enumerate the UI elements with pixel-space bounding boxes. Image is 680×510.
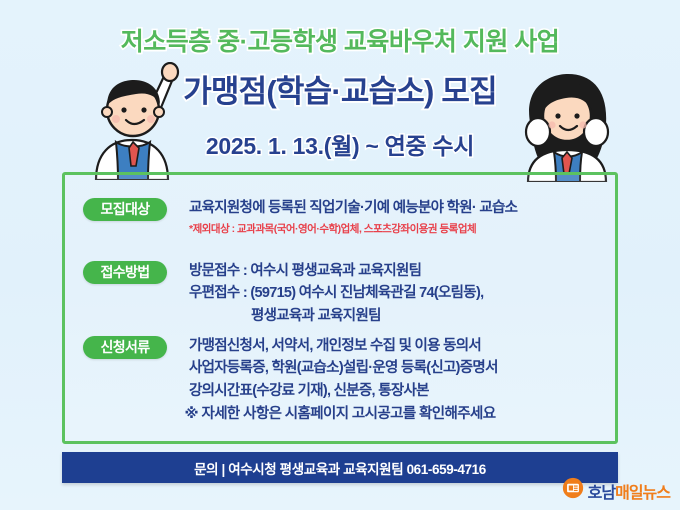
- section-line: 평생교육과 교육지원팀: [189, 305, 483, 327]
- poster-canvas: 저소득층 중·고등학생 교육바우처 지원 사업 가맹점(학습·교습소) 모집 2…: [0, 0, 680, 510]
- section-line: 가맹점신청서, 서약서, 개인정보 수집 및 이용 동의서: [189, 335, 498, 357]
- section-line: 교육지원청에 등록된 직업기술·기예 예능분야 학원· 교습소: [189, 197, 517, 219]
- section-line: 우편접수 : (59715) 여수시 진남체육관길 74(오림동),: [189, 282, 483, 304]
- section-body-application-method: 방문접수 : 여수시 평생교육과 교육지원팀 우편접수 : (59715) 여수…: [189, 260, 483, 327]
- section-line: 강의시간표(수강료 기재), 신분증, 통장사본: [189, 380, 498, 402]
- contact-text: 문의 | 여수시청 평생교육과 교육지원팀 061-659-4716: [194, 458, 486, 478]
- news-logo-icon: [562, 477, 584, 504]
- section-label-application-method: 접수방법: [83, 261, 167, 284]
- watermark-logo: 호남매일뉴스: [562, 477, 670, 504]
- info-panel: 모집대상 교육지원청에 등록된 직업기술·기예 예능분야 학원· 교습소 *제외…: [62, 172, 618, 444]
- section-row-recruitment-target: 모집대상 교육지원청에 등록된 직업기술·기예 예능분야 학원· 교습소 *제외…: [83, 197, 601, 238]
- watermark-text-part1: 호남: [588, 485, 615, 502]
- section-row-required-documents: 신청서류 가맹점신청서, 서약서, 개인정보 수집 및 이용 동의서 사업자등록…: [83, 335, 601, 402]
- section-label-required-documents: 신청서류: [83, 336, 167, 359]
- page-title-line1: 저소득층 중·고등학생 교육바우처 지원 사업: [0, 0, 680, 58]
- watermark-text: 호남매일뉴스: [588, 479, 670, 503]
- section-body-recruitment-target: 교육지원청에 등록된 직업기술·기예 예능분야 학원· 교습소 *제외대상 : …: [189, 197, 517, 238]
- section-body-required-documents: 가맹점신청서, 서약서, 개인정보 수집 및 이용 동의서 사업자등록증, 학원…: [189, 335, 498, 402]
- watermark-text-part2: 매일뉴스: [615, 485, 670, 502]
- exclusion-note: *제외대상 : 교과과목(국어·영어·수학)업체, 스포츠강좌이용권 등록업체: [189, 221, 517, 237]
- section-line: 사업자등록증, 학원(교습소)설립·운영 등록(신고)증명서: [189, 357, 498, 379]
- section-label-recruitment-target: 모집대상: [83, 198, 167, 221]
- poster-header: 저소득층 중·고등학생 교육바우처 지원 사업 가맹점(학습·교습소) 모집 2…: [0, 0, 680, 172]
- section-row-application-method: 접수방법 방문접수 : 여수시 평생교육과 교육지원팀 우편접수 : (5971…: [83, 260, 601, 327]
- page-title-line2: 가맹점(학습·교습소) 모집: [0, 66, 680, 111]
- contact-footer-bar: 문의 | 여수시청 평생교육과 교육지원팀 061-659-4716: [62, 452, 618, 483]
- panel-footnote: ※ 자세한 사항은 시홈페이지 고시공고를 확인해주세요: [65, 402, 615, 423]
- recruitment-period: 2025. 1. 13.(월) ~ 연중 수시: [0, 127, 680, 161]
- section-line: 방문접수 : 여수시 평생교육과 교육지원팀: [189, 260, 483, 282]
